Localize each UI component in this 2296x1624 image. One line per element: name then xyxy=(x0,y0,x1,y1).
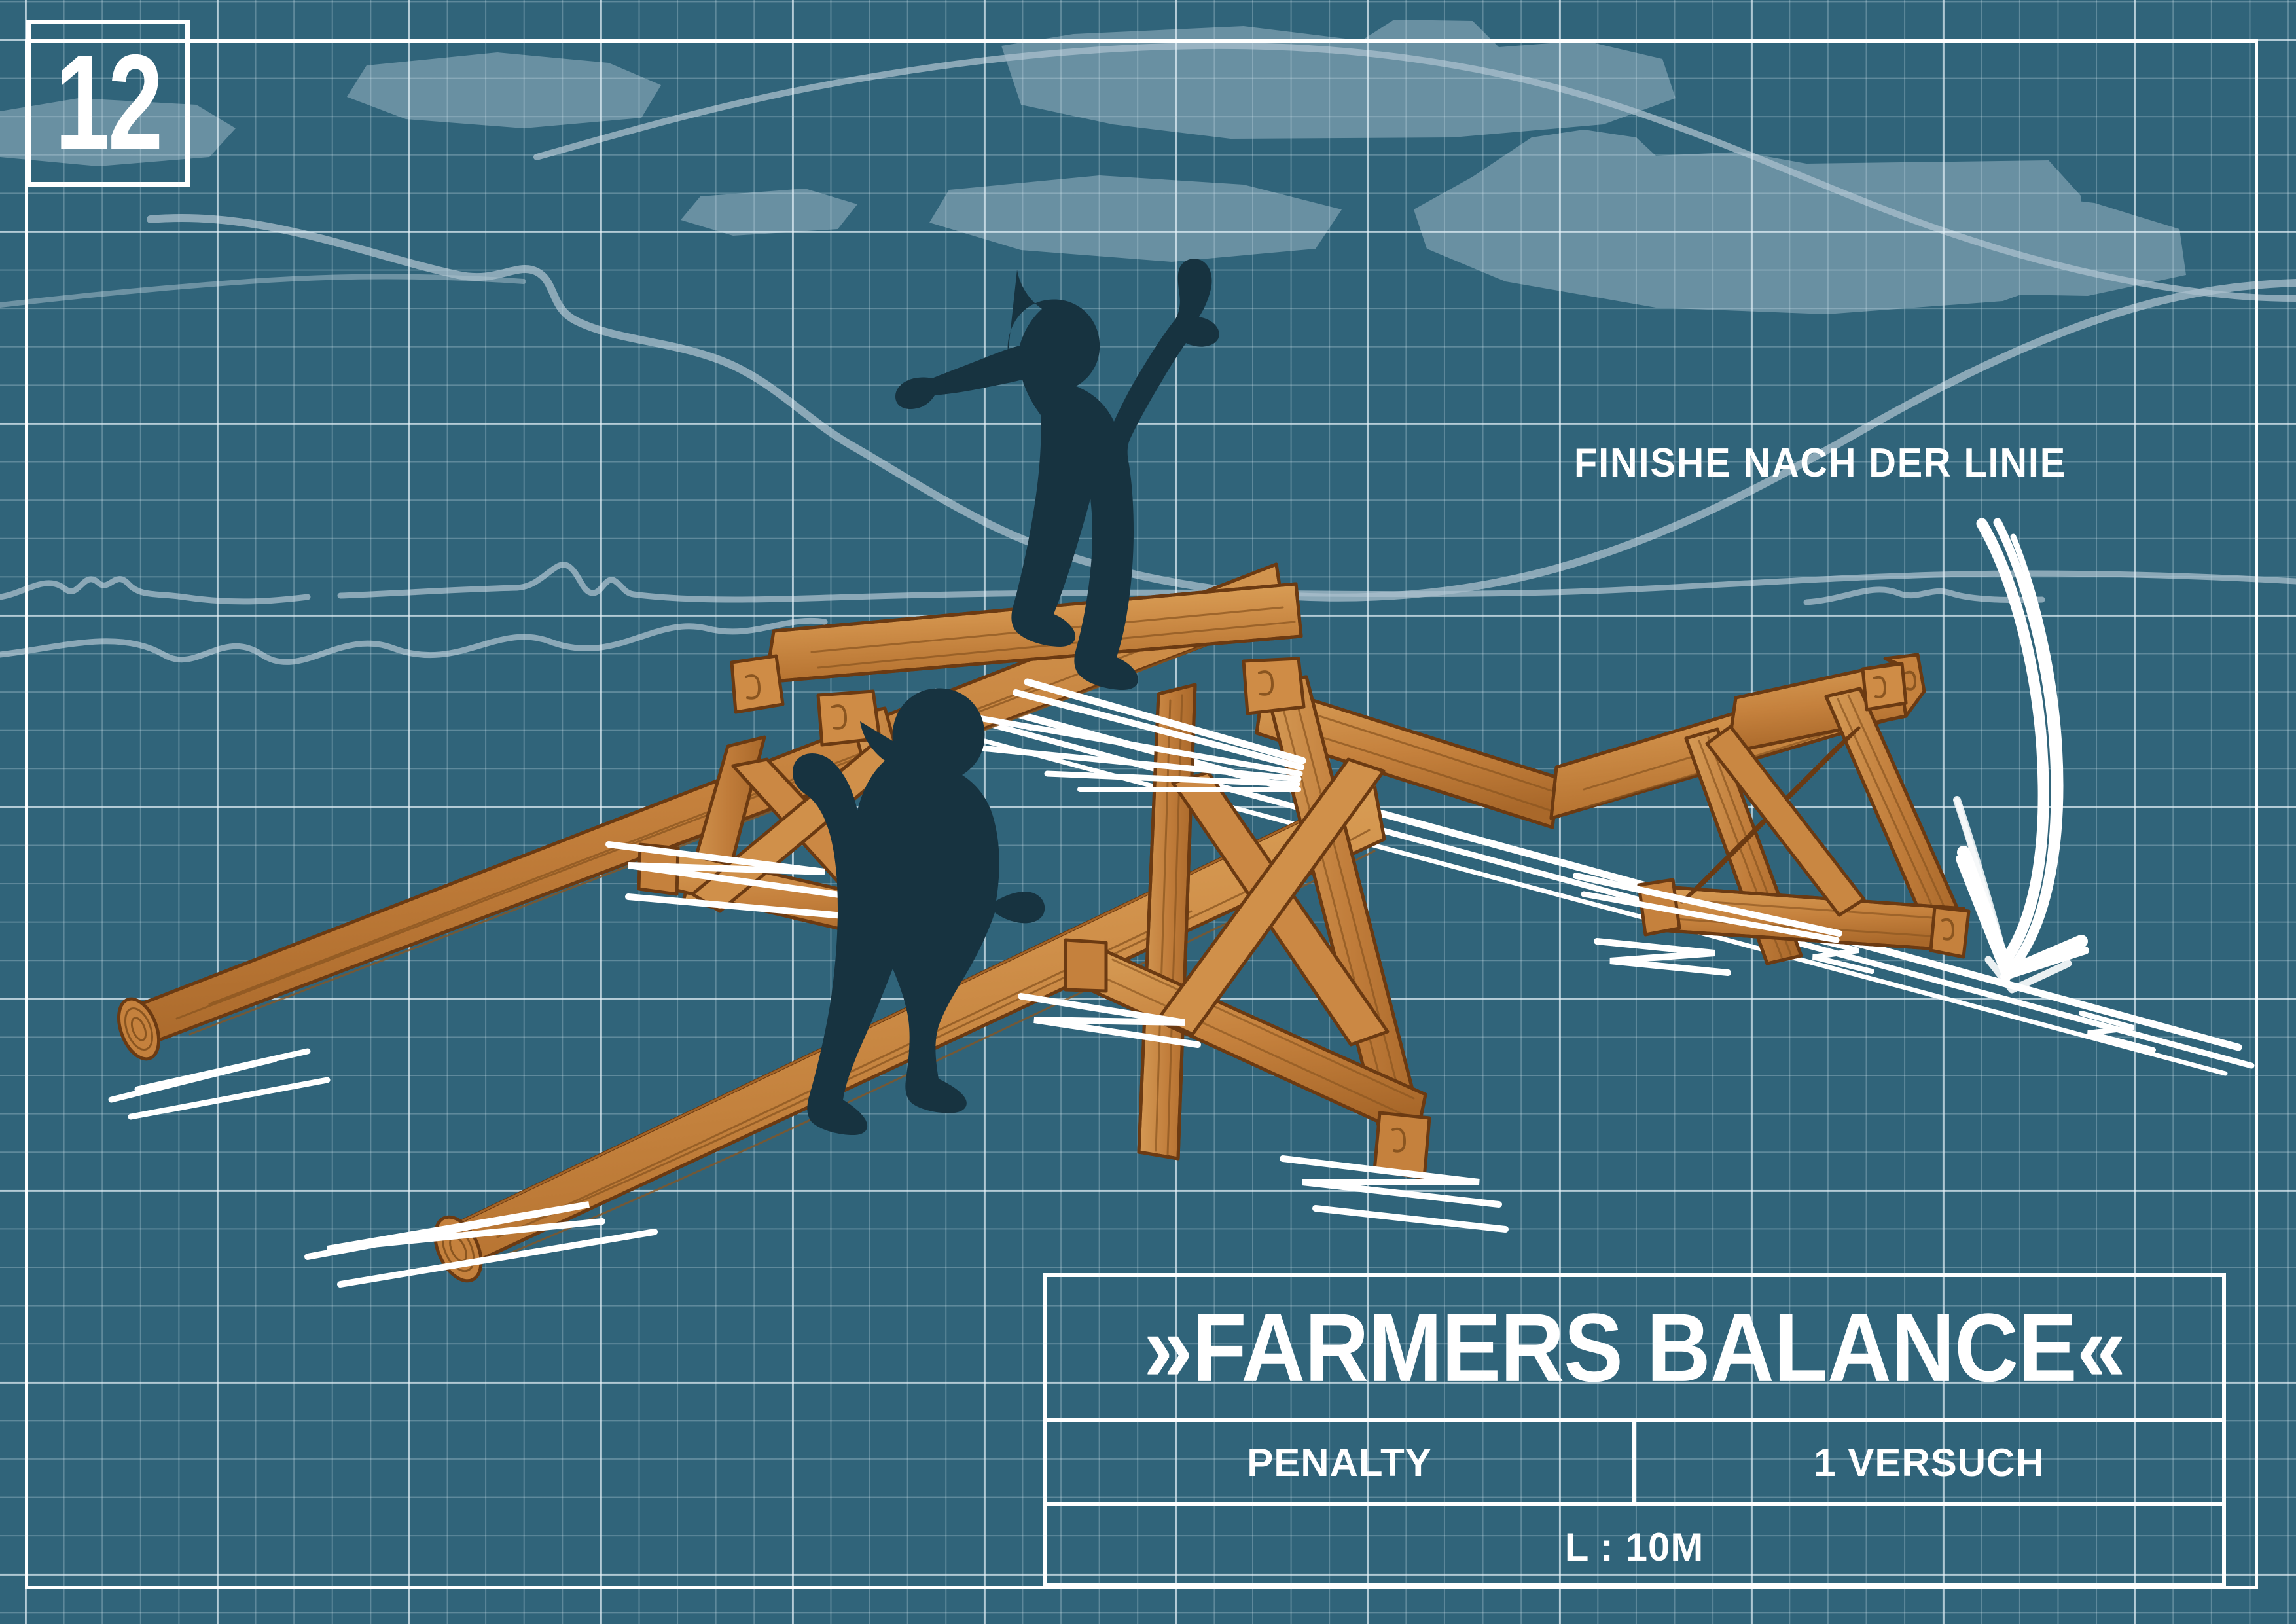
length-cell: L : 10M xyxy=(1047,1506,2222,1587)
penalty-cell: PENALTY xyxy=(1047,1422,1636,1502)
title-block: »FARMERS BALANCE« PENALTY 1 VERSUCH L : … xyxy=(1043,1273,2226,1587)
obstacle-title: »FARMERS BALANCE« xyxy=(1047,1277,2222,1422)
attempts-cell: 1 VERSUCH xyxy=(1636,1422,2222,1502)
finish-annotation-label: FINISHE NACH DER LINIE xyxy=(1574,440,2066,486)
blueprint-poster: 12 FINISHE NACH DER LINIE »FARMERS BALAN… xyxy=(0,0,2296,1624)
obstacle-number: 12 xyxy=(55,35,161,171)
obstacle-number-badge: 12 xyxy=(26,20,190,187)
obstacle-title-text: »FARMERS BALANCE« xyxy=(1143,1291,2125,1404)
title-block-row-2: PENALTY 1 VERSUCH xyxy=(1047,1422,2222,1506)
